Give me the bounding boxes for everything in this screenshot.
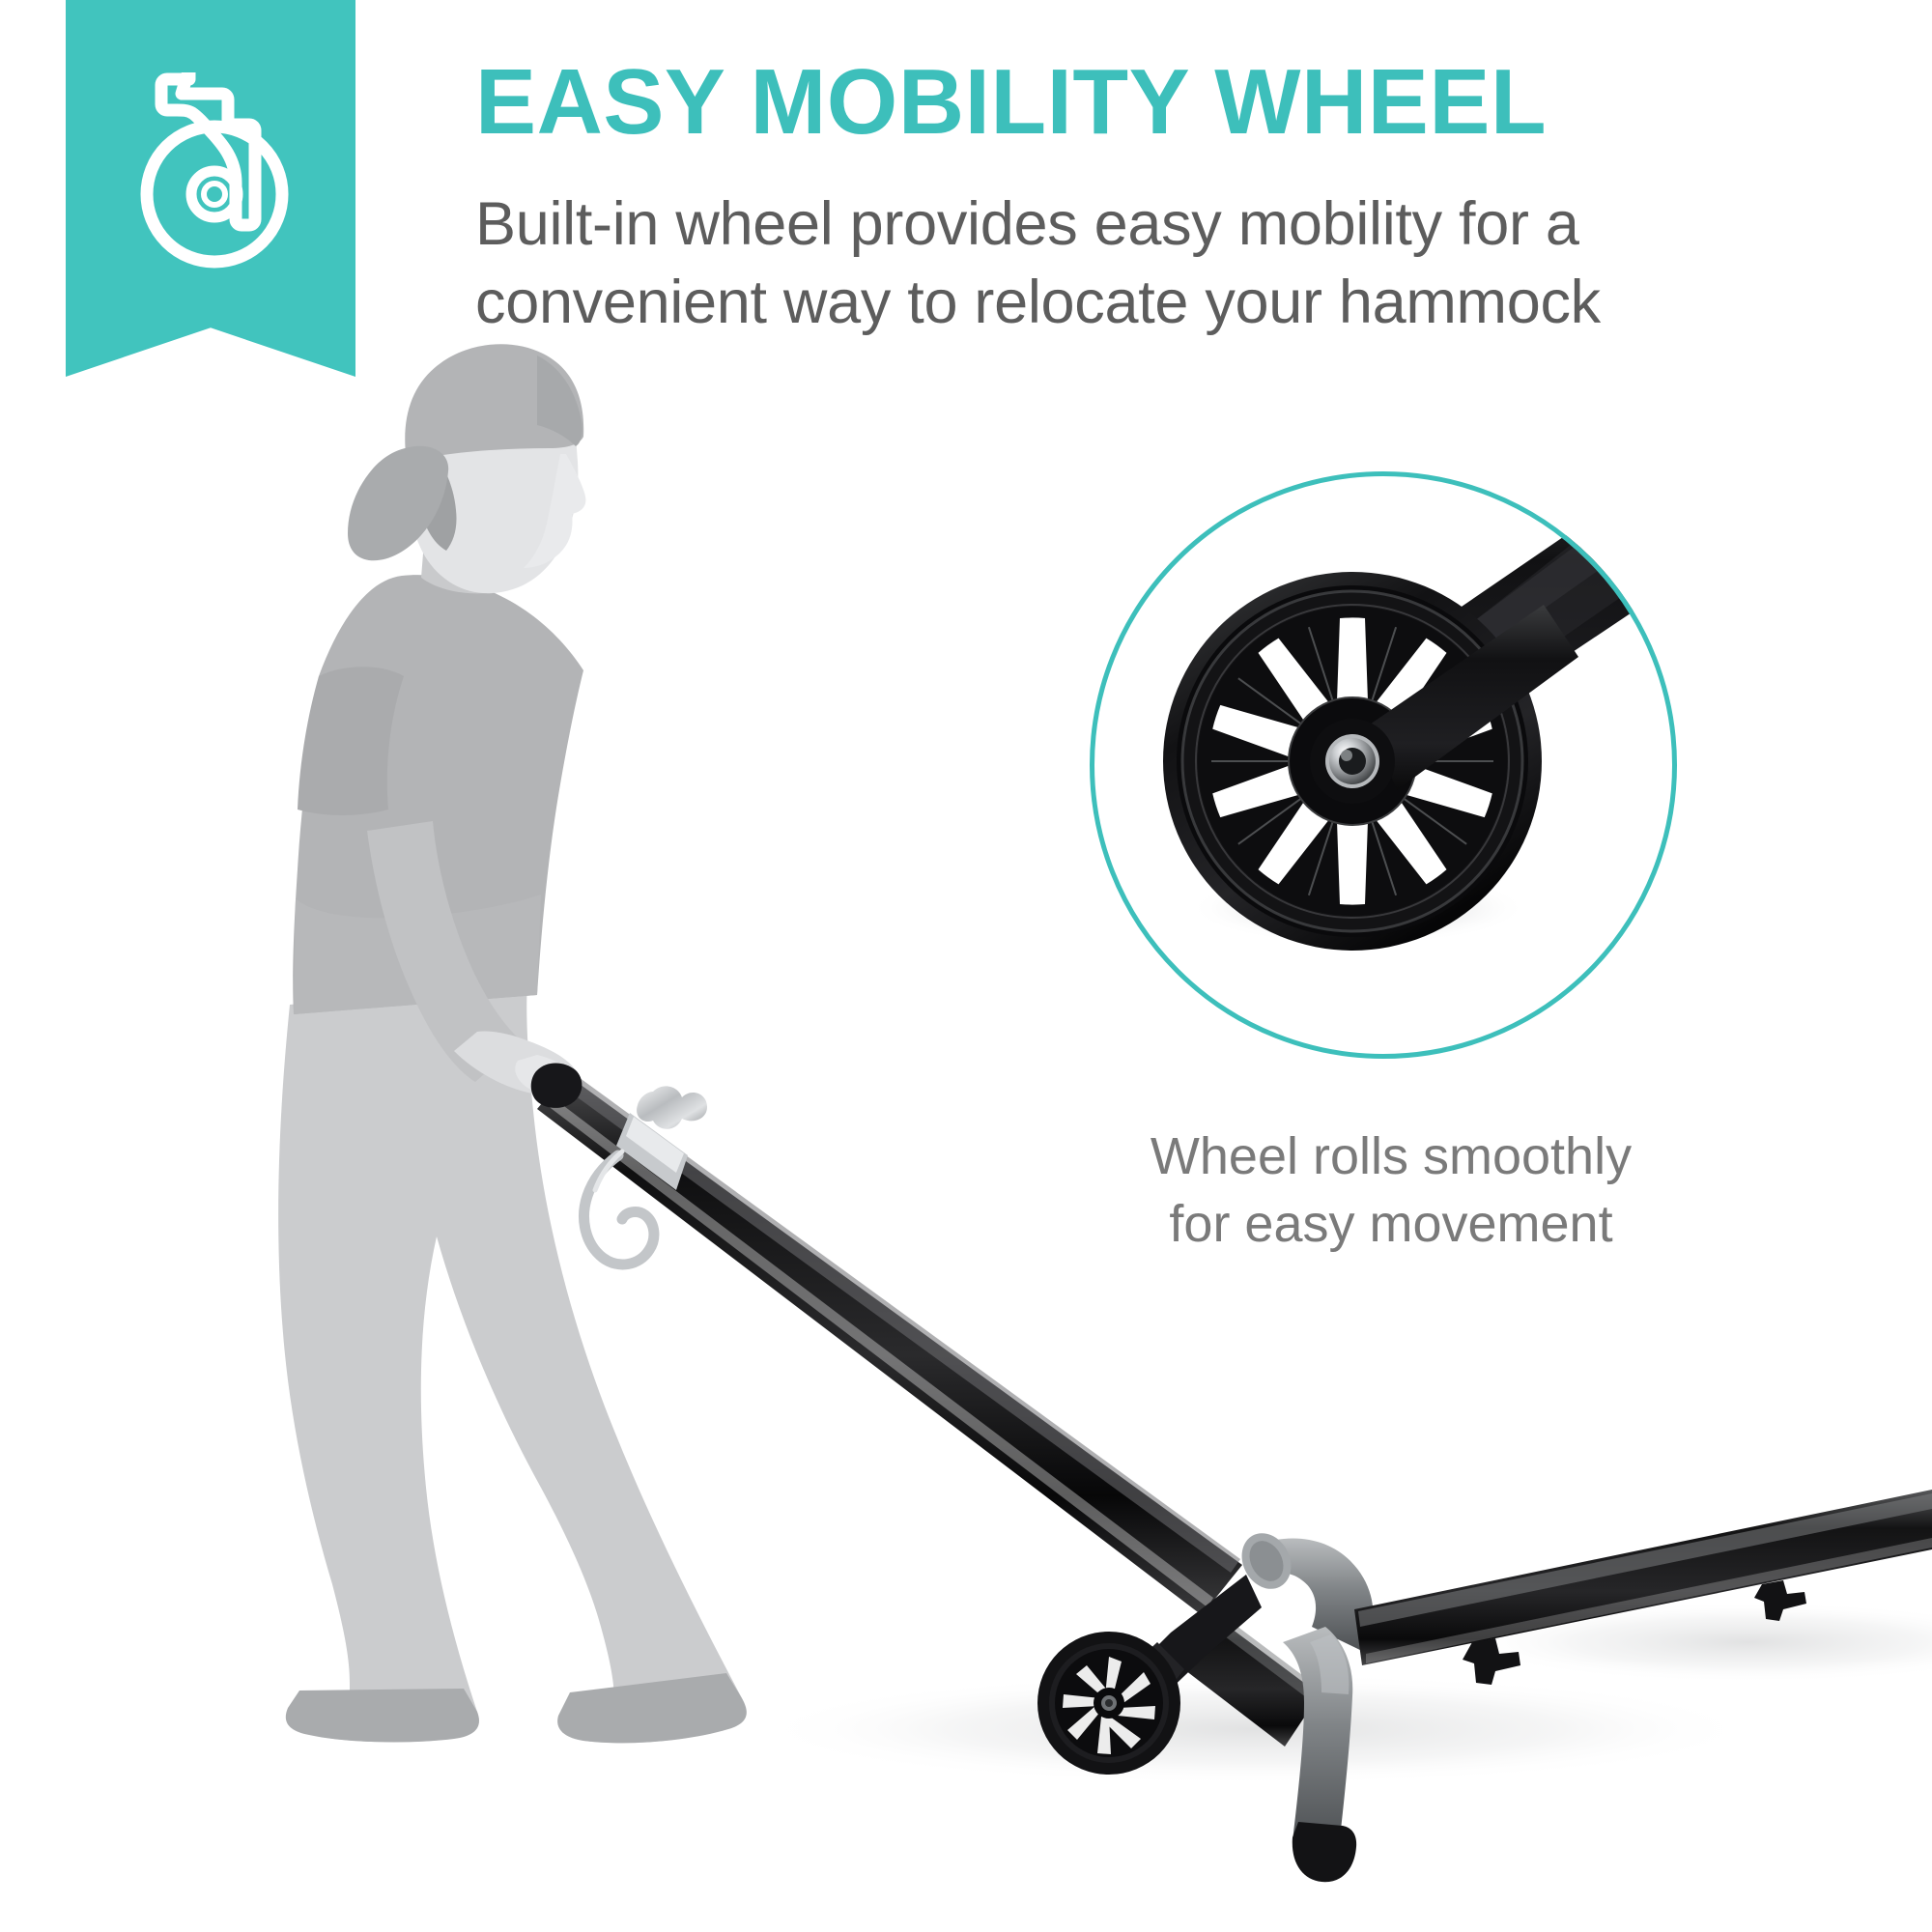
person-silhouette <box>278 344 747 1743</box>
callout-circle-ring <box>1090 471 1677 1059</box>
product-scene <box>0 0 1932 1932</box>
infographic-page: EASY MOBILITY WHEEL Built-in wheel provi… <box>0 0 1932 1932</box>
caption-line-2: for easy movement <box>1063 1190 1719 1258</box>
gray-elbow-joint <box>1233 1524 1374 1652</box>
callout-caption: Wheel rolls smoothly for easy movement <box>1063 1122 1719 1258</box>
caption-line-1: Wheel rolls smoothly <box>1151 1127 1632 1185</box>
